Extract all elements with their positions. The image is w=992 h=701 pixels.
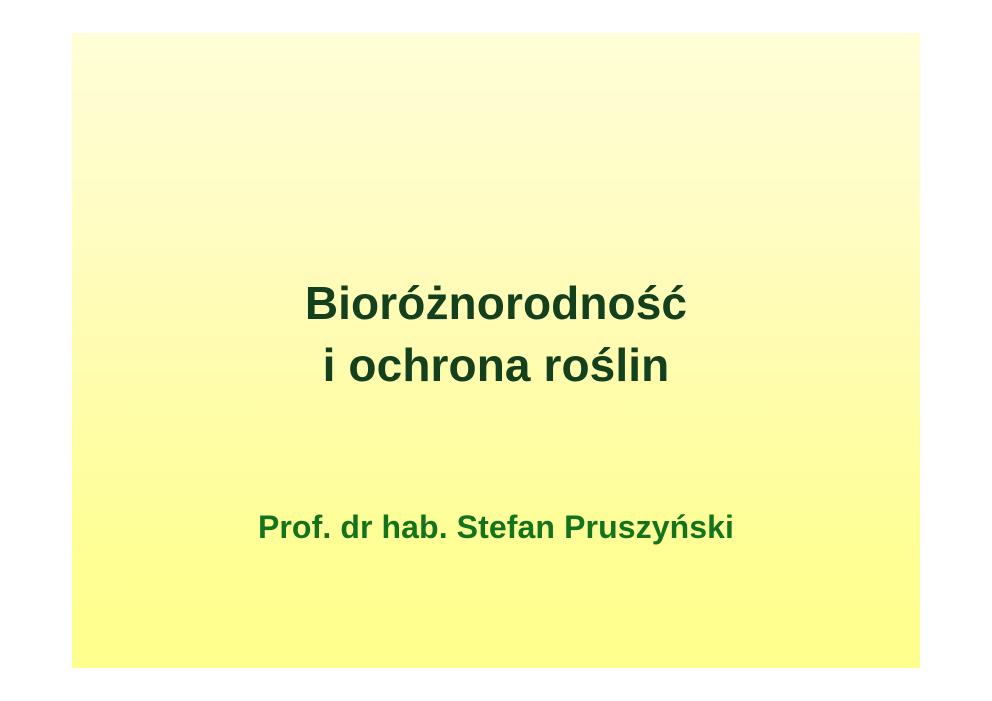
slide-subtitle: Prof. dr hab. Stefan Pruszyński <box>72 506 920 548</box>
slide-title: Bioróżnorodność i ochrona roślin <box>72 272 920 396</box>
title-line-2: i ochrona roślin <box>72 334 920 396</box>
slide-canvas: Bioróżnorodność i ochrona roślin Prof. d… <box>0 0 992 701</box>
title-line-1: Bioróżnorodność <box>72 272 920 334</box>
subtitle-author-name: Prof. dr hab. Stefan Pruszyński <box>72 506 920 548</box>
presentation-slide: Bioróżnorodność i ochrona roślin Prof. d… <box>72 33 920 668</box>
slide-content-area: Bioróżnorodność i ochrona roślin Prof. d… <box>72 33 920 668</box>
